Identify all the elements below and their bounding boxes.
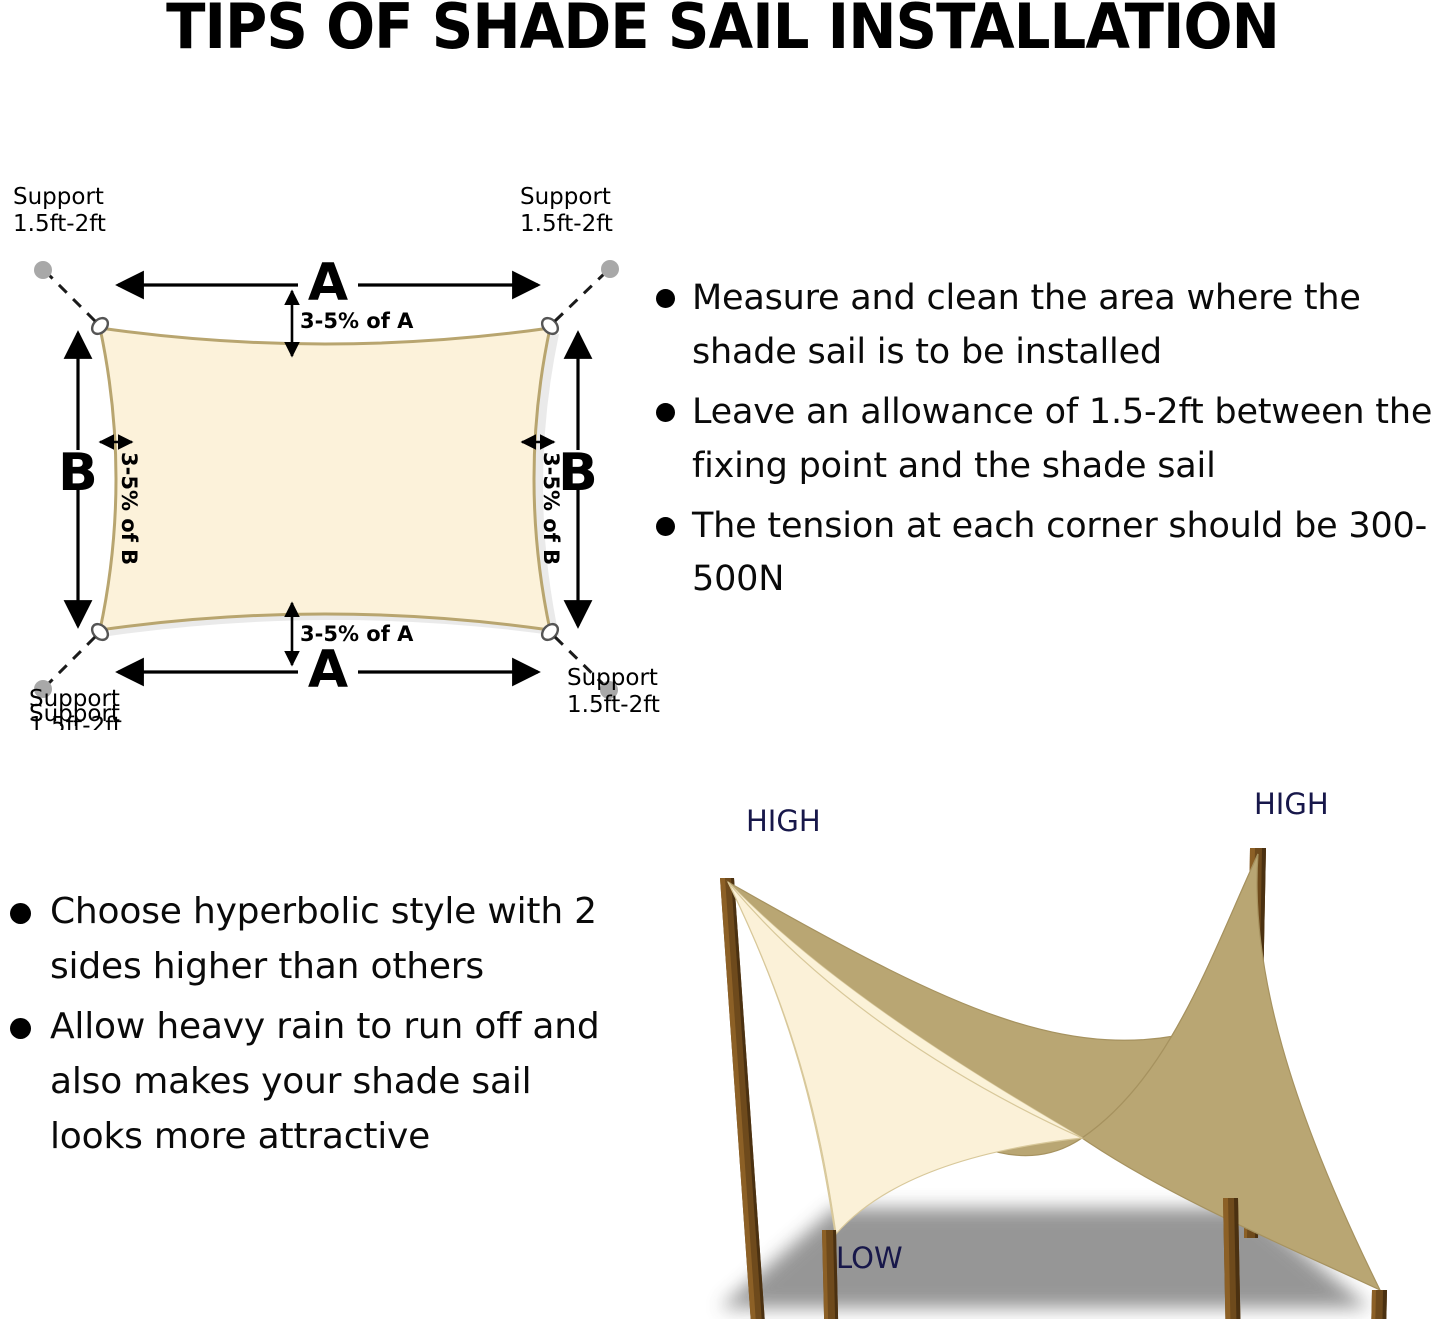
list-item-text: Measure and clean the area where the sha…	[692, 278, 1361, 372]
list-item: The tension at each corner should be 300…	[648, 500, 1445, 608]
curve-label-right: 3-5% of B	[539, 452, 563, 565]
curve-label-left: 3-5% of B	[117, 452, 141, 565]
infographic-page: TIPS OF SHADE SAIL INSTALLATION	[0, 0, 1445, 1319]
bullet-dot-icon	[10, 903, 31, 924]
support-label-top-left-line2: 1.5ft-2ft	[13, 211, 106, 237]
tips-list-right: Measure and clean the area where the sha…	[648, 272, 1445, 613]
support-label-bottom-right-line-2: 1.5ft-2ft	[567, 692, 660, 718]
curve-label-bottom: 3-5% of A	[300, 622, 414, 646]
label-high-right: HIGH	[1254, 787, 1329, 821]
curve-label-top: 3-5% of A	[300, 309, 414, 333]
list-item-text: Allow heavy rain to run off and also mak…	[50, 1006, 600, 1156]
label-low-left: LOW	[836, 1241, 903, 1275]
bullet-dot-icon	[656, 289, 675, 308]
list-item: Choose hyperbolic style with 2 sides hig…	[4, 885, 624, 994]
list-item: Allow heavy rain to run off and also mak…	[4, 1000, 624, 1164]
bullet-dot-icon	[10, 1018, 31, 1039]
support-dot-top-left	[34, 261, 52, 279]
sail-shape	[100, 328, 559, 636]
support-label-top-right-line1: Support	[520, 184, 611, 210]
support-label-top-right-line2: 1.5ft-2ft	[520, 211, 613, 237]
dimension-label-b-right: B	[558, 443, 598, 503]
page-title: TIPS OF SHADE SAIL INSTALLATION	[51, 0, 1395, 59]
support-dot-top-right	[601, 260, 619, 278]
support-label-bottom-left-line-1: Support	[29, 686, 120, 712]
bullet-dot-icon	[656, 403, 675, 422]
tips-list-left: Choose hyperbolic style with 2 sides hig…	[4, 885, 624, 1171]
support-label-top-left-line1: Support	[13, 184, 104, 210]
support-label-bottom-right-line-1: Support	[567, 665, 658, 691]
label-high-left: HIGH	[746, 804, 821, 838]
bullet-dot-icon	[656, 517, 675, 536]
dimension-label-a-top: A	[308, 253, 348, 313]
support-label-bottom-left-line-2: 1.5ft-2ft	[29, 713, 122, 730]
list-item-text: Leave an allowance of 1.5-2ft between th…	[692, 392, 1432, 486]
hyperbolic-sail-scene: HIGH HIGH LOW LOW	[650, 778, 1445, 1319]
list-item-text: Choose hyperbolic style with 2 sides hig…	[50, 891, 597, 987]
list-item: Leave an allowance of 1.5-2ft between th…	[648, 386, 1445, 494]
rect-sail-diagram: Support 1.5ft-2ft Support 1.5ft-2ft Supp…	[0, 160, 660, 730]
list-item-text: The tension at each corner should be 300…	[692, 506, 1427, 600]
dimension-label-a-bottom: A	[308, 640, 348, 700]
dimension-label-b-left: B	[58, 443, 98, 503]
list-item: Measure and clean the area where the sha…	[648, 272, 1445, 380]
